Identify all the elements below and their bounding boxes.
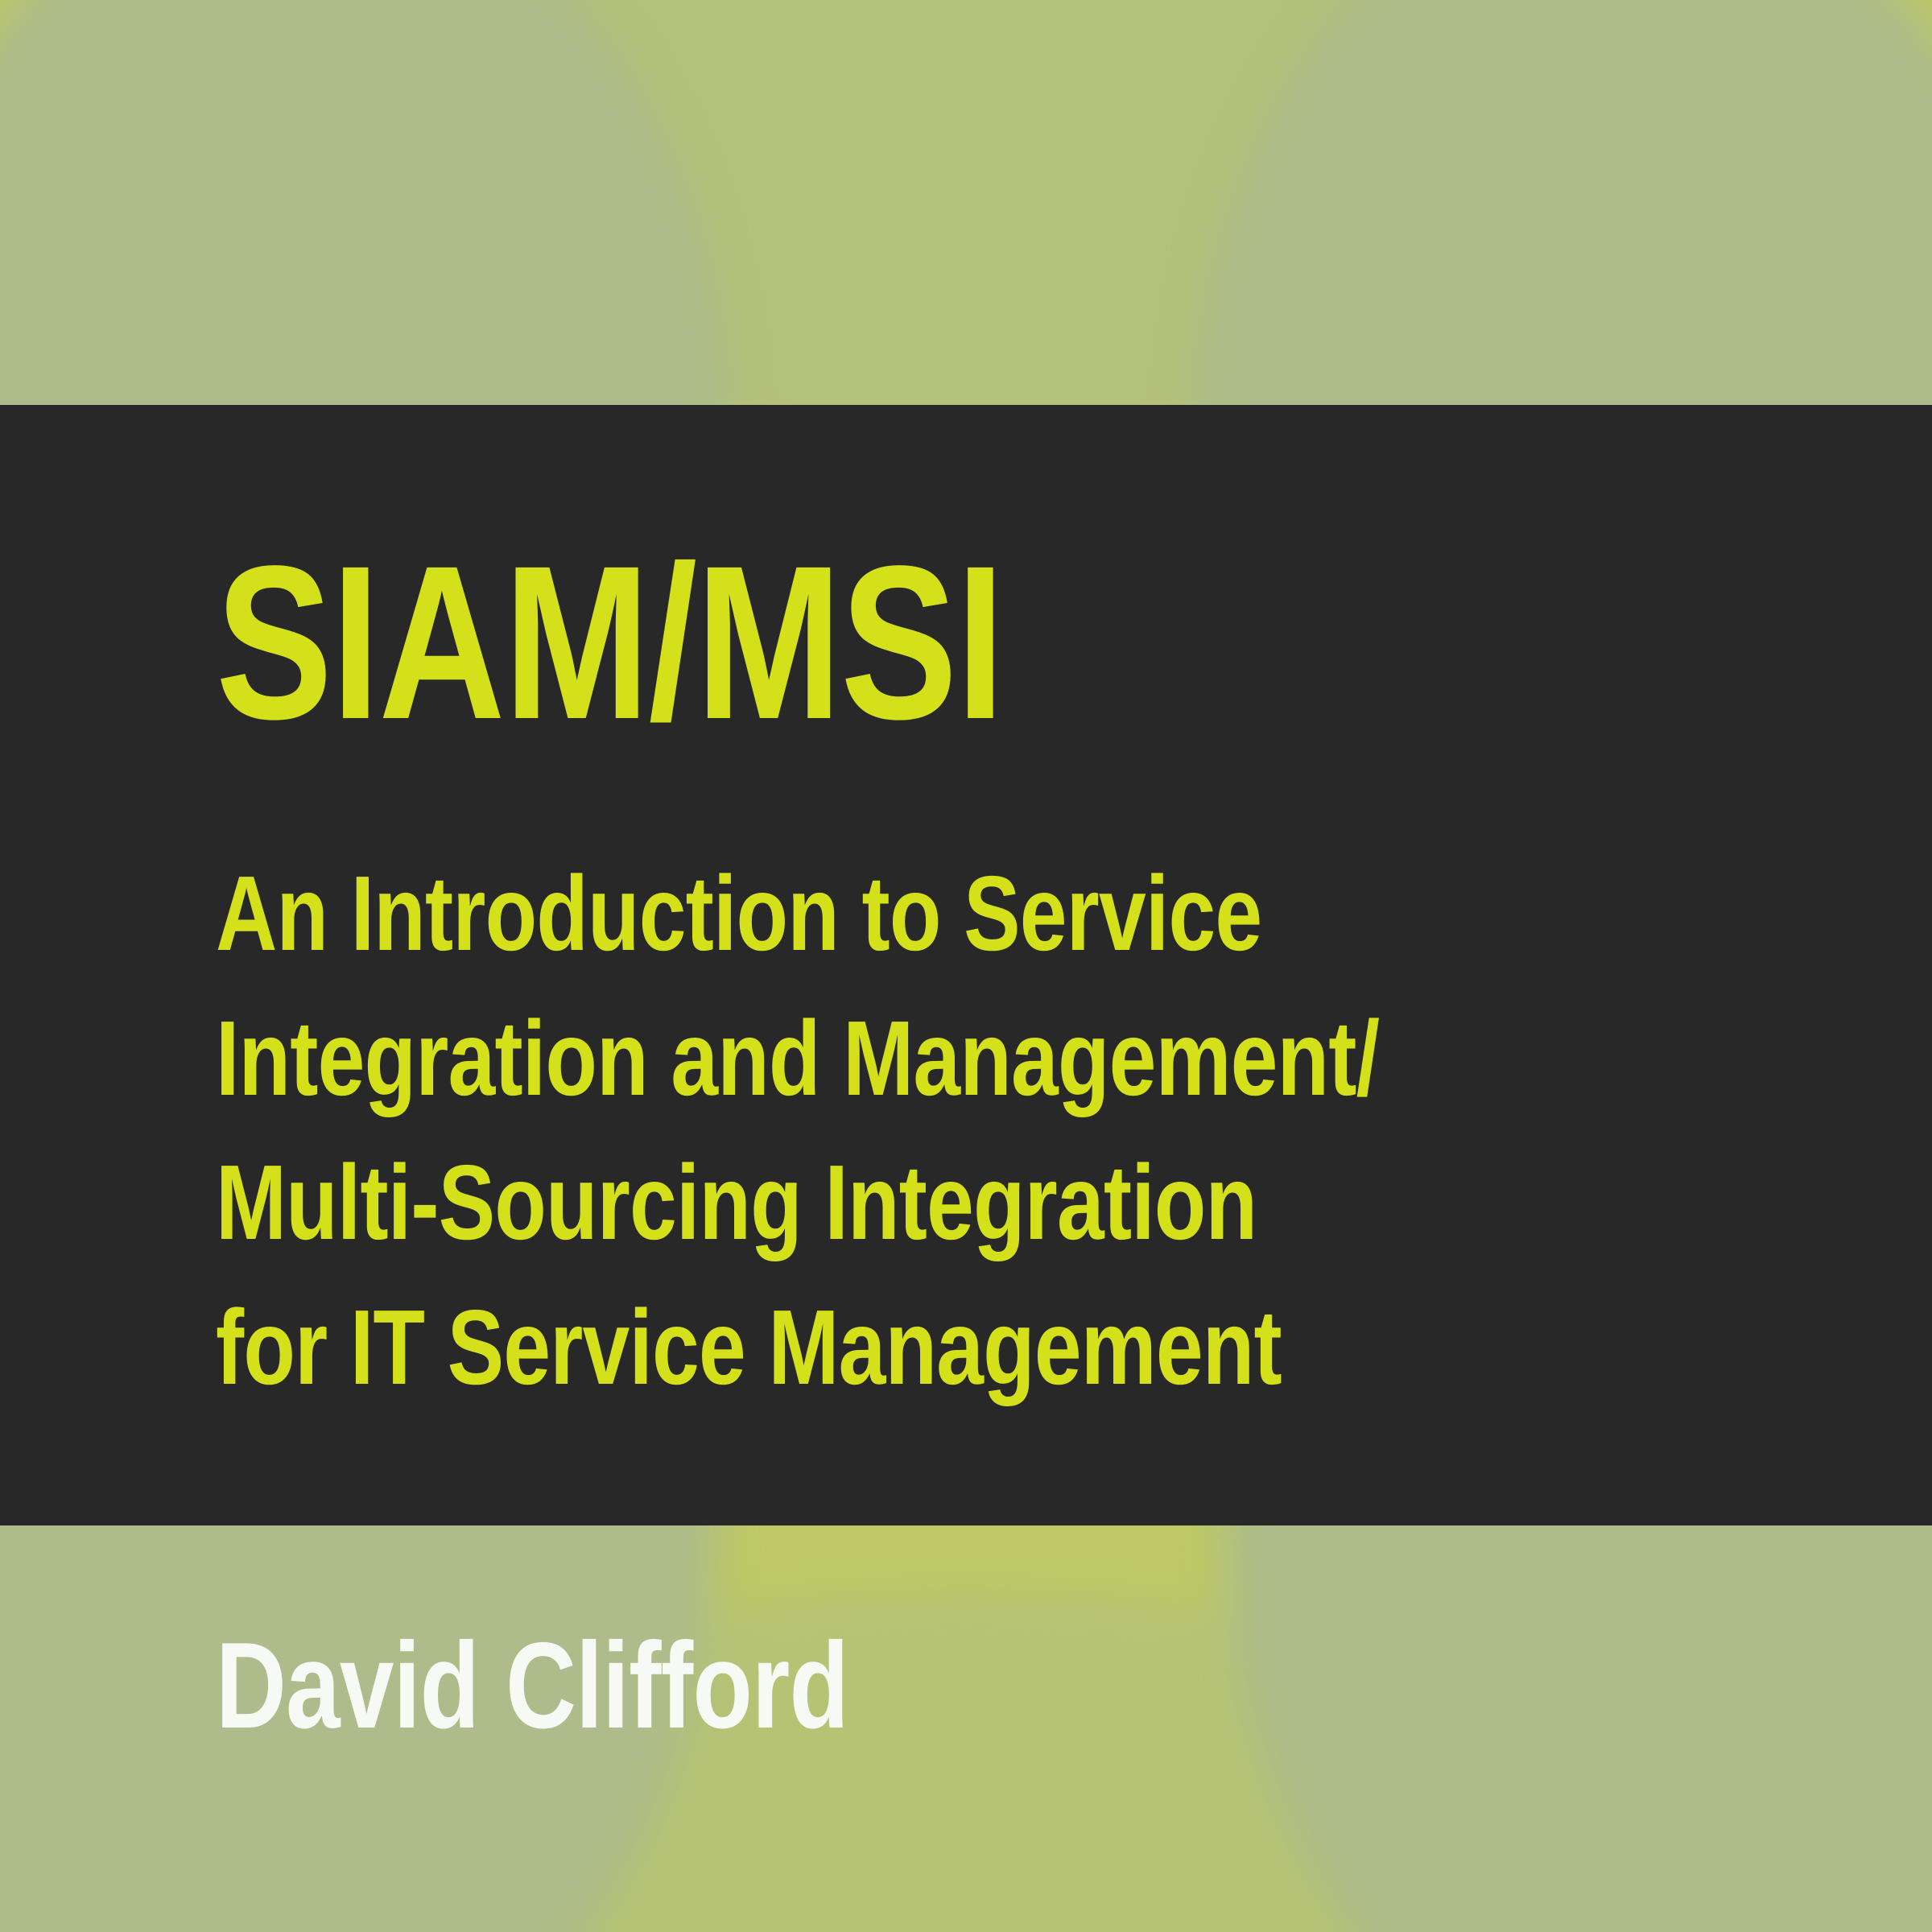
- book-author: David Clifford: [216, 1624, 848, 1747]
- book-cover: SIAM/MSI An Introduction to Service Inte…: [0, 0, 1932, 1932]
- book-subtitle-line-2: Integration and Management/: [216, 986, 1379, 1131]
- background-blob-top-center: [161, 0, 1771, 467]
- book-subtitle-line-4: for IT Service Management: [216, 1275, 1379, 1420]
- book-subtitle-line-3: Multi-Sourcing Integration: [216, 1130, 1379, 1275]
- book-title: SIAM/MSI: [216, 533, 1004, 752]
- book-subtitle: An Introduction to Service Integration a…: [216, 841, 1379, 1419]
- book-subtitle-line-1: An Introduction to Service: [216, 841, 1379, 986]
